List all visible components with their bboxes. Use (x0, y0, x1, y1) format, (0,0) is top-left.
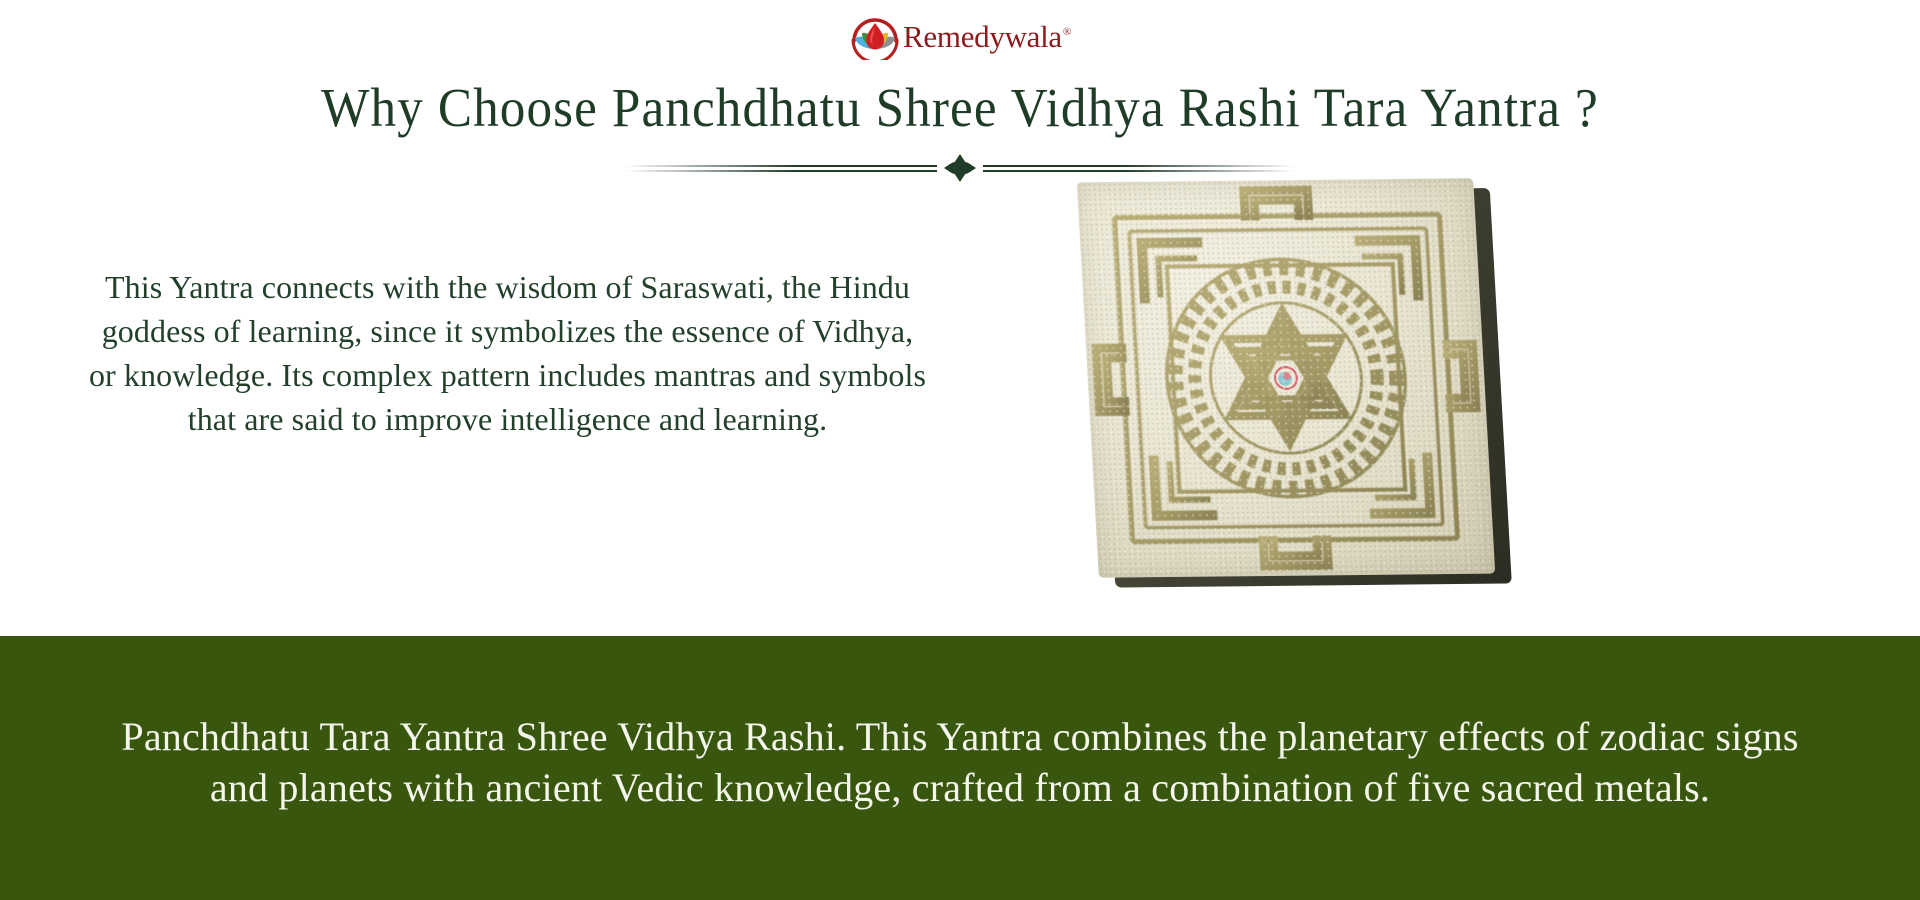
banner-paragraph: Panchdhatu Tara Yantra Shree Vidhya Rash… (80, 711, 1840, 813)
top-white-section: Remedywala® Why Choose Panchdhatu Shree … (0, 0, 1920, 636)
body-paragraph: This Yantra connects with the wisdom of … (85, 265, 930, 442)
bottom-green-banner: Panchdhatu Tara Yantra Shree Vidhya Rash… (0, 636, 1920, 900)
registered-mark: ® (1063, 26, 1071, 38)
yantra-plate-image (1040, 168, 1540, 628)
quatrefoil-ornament-icon (943, 153, 977, 183)
brand-logo[interactable]: Remedywala® (849, 8, 1071, 62)
page-title: Why Choose Panchdhatu Shree Vidhya Rashi… (67, 78, 1853, 139)
yantra-engraving (1077, 178, 1495, 578)
lotus-drop-logo-icon (849, 10, 901, 60)
promo-banner-page: Remedywala® Why Choose Panchdhatu Shree … (0, 0, 1920, 900)
divider-rule-left (625, 163, 937, 174)
plate-face (1077, 178, 1495, 578)
yantra-plate (1077, 178, 1495, 578)
brand-name-text: Remedywala (903, 19, 1062, 54)
brand-name: Remedywala® (903, 21, 1071, 52)
